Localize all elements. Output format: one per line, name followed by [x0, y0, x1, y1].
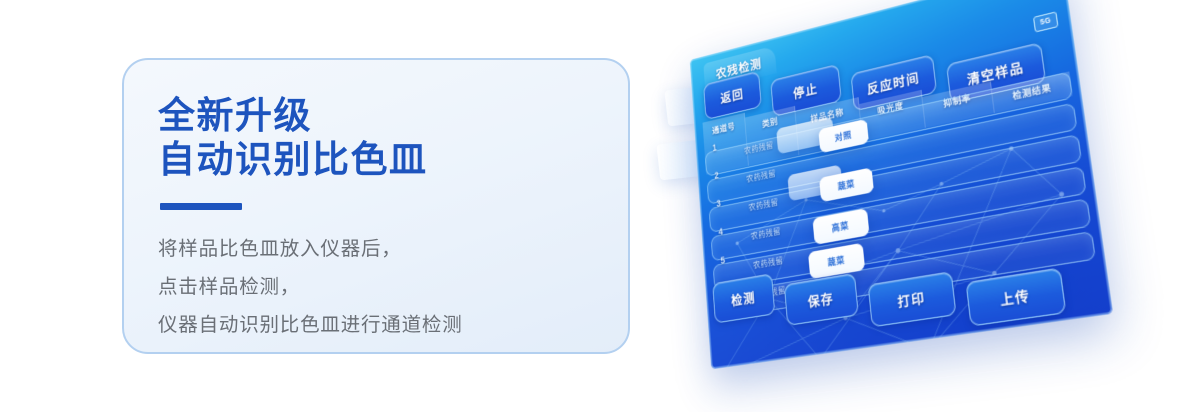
detect-button[interactable]: 检测: [712, 273, 775, 323]
title-line-1: 全新升级: [158, 94, 602, 138]
description-line-2: 点击样品检测，: [158, 268, 602, 306]
print-button[interactable]: 打印: [868, 271, 957, 327]
feature-info-card: 全新升级 自动识别比色皿 将样品比色皿放入仪器后， 点击样品检测， 仪器自动识别…: [122, 58, 630, 354]
cell-channel: 4: [718, 227, 723, 238]
info-card-content: 全新升级 自动识别比色皿 将样品比色皿放入仪器后， 点击样品检测， 仪器自动识别…: [158, 94, 602, 344]
column-header-inhibition-rate: 抑制率: [922, 81, 995, 127]
description-line-3: 仪器自动识别比色皿进行通道检测: [158, 306, 602, 344]
signal-badge-icon: 5G: [1033, 11, 1059, 32]
cell-channel: 3: [716, 198, 721, 209]
app-screen: 农残检测 5G 返回 停止 反应时间 清空样品 通道号 类别 样品名称 吸光度 …: [690, 0, 1113, 369]
device-mockup: 1 2: [640, 0, 1160, 412]
cell-channel: 1: [712, 143, 717, 153]
device-screen-3d: 农残检测 5G 返回 停止 反应时间 清空样品 通道号 类别 样品名称 吸光度 …: [690, 0, 1113, 369]
cell-channel: 5: [720, 255, 725, 266]
page-title: 全新升级 自动识别比色皿: [158, 94, 602, 181]
title-divider: [160, 203, 242, 210]
cell-channel: 2: [714, 170, 719, 181]
save-button[interactable]: 保存: [784, 273, 859, 326]
banner-root: 全新升级 自动识别比色皿 将样品比色皿放入仪器后， 点击样品检测， 仪器自动识别…: [0, 0, 1200, 412]
column-header-result: 检测结果: [992, 71, 1073, 112]
sample-tag[interactable]: 高菜: [812, 208, 869, 245]
clear-samples-button[interactable]: 清空样品: [946, 42, 1046, 103]
description-line-1: 将样品比色皿放入仪器后，: [158, 230, 602, 268]
upload-button[interactable]: 上传: [965, 267, 1066, 326]
title-line-2: 自动识别比色皿: [158, 138, 602, 182]
